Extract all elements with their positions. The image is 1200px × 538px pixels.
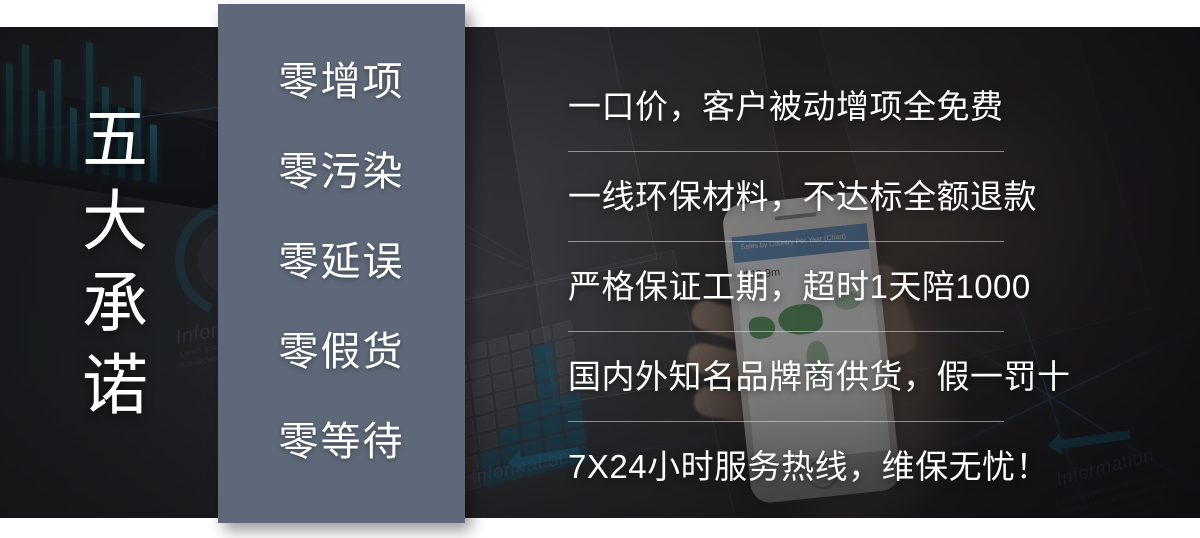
promise-row-1: 一口价，客户被动增项全免费 [568, 62, 1004, 152]
promise-text-1: 一口价，客户被动增项全免费 [568, 87, 1004, 127]
title-char-1: 五 [74, 98, 156, 180]
title-char-4: 诺 [74, 344, 156, 426]
zero-promise-list: 零增项 零污染 零延误 零假货 零等待 [218, 4, 465, 523]
promise-text-2: 一线环保材料，不达标全额退款 [568, 177, 1037, 217]
promise-row-5: 7X24小时服务热线，维保无忧！ [568, 422, 1004, 512]
promise-row-4: 国内外知名品牌商供货，假一罚十 [568, 332, 1004, 422]
promise-banner: Sales by Country Per Year (Chart) $28.9m… [0, 0, 1200, 538]
title-char-3: 承 [74, 262, 156, 344]
promise-detail-list: 一口价，客户被动增项全免费 一线环保材料，不达标全额退款 严格保证工期，超时1天… [568, 62, 1004, 512]
page-title: 五 大 承 诺 [74, 98, 156, 426]
zero-promise-panel: 零增项 零污染 零延误 零假货 零等待 [218, 4, 465, 523]
zero-promise-item-4: 零假货 [279, 332, 405, 372]
promise-row-2: 一线环保材料，不达标全额退款 [568, 152, 1004, 242]
zero-promise-item-5: 零等待 [279, 422, 405, 462]
promise-text-4: 国内外知名品牌商供货，假一罚十 [568, 357, 1071, 397]
zero-promise-item-2: 零污染 [279, 152, 405, 192]
title-char-2: 大 [74, 180, 156, 262]
promise-text-3: 严格保证工期，超时1天陪1000 [568, 267, 1031, 307]
zero-promise-item-3: 零延误 [279, 242, 405, 282]
zero-promise-item-1: 零增项 [279, 62, 405, 102]
promise-row-3: 严格保证工期，超时1天陪1000 [568, 242, 1004, 332]
promise-text-5: 7X24小时服务热线，维保无忧！ [568, 447, 1049, 487]
